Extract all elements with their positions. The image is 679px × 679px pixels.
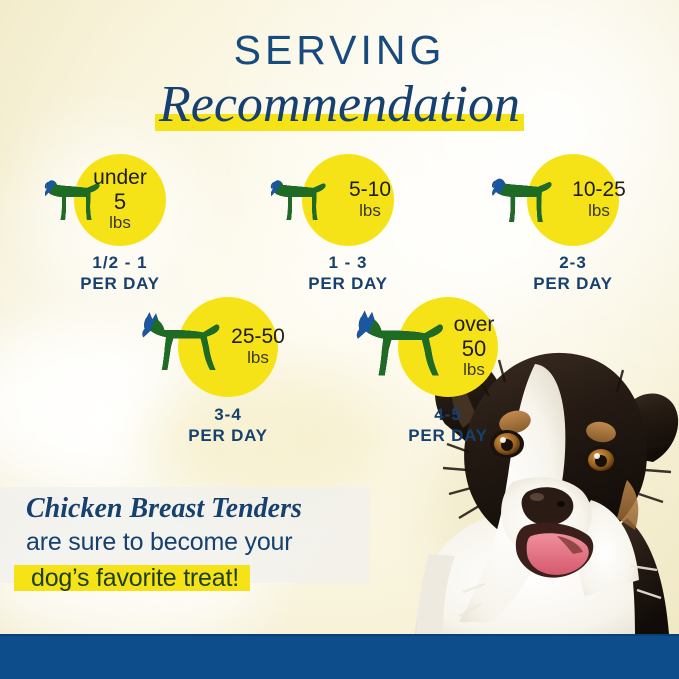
weight-value: 5-10: [349, 179, 391, 201]
weight-label: 25-50 lbs: [178, 297, 308, 397]
page-title: SERVING Recommendation: [0, 30, 679, 132]
weight-unit: lbs: [247, 348, 269, 368]
bottom-brand-bar: [0, 634, 679, 679]
serving-amount: 1/2 - 1: [20, 253, 220, 274]
title-line-serving: SERVING: [0, 30, 679, 71]
blurb: Chicken Breast Tenders are sure to becom…: [26, 492, 386, 594]
serving-amount: 1 - 3: [248, 253, 448, 274]
weight-unit: lbs: [109, 213, 131, 233]
blurb-line-2: are sure to become your: [26, 526, 386, 559]
serving-cell-5-10: 5-10 lbs 1 - 3 PER DAY: [248, 150, 448, 294]
weight-value: 5: [114, 190, 126, 213]
serving-disc-area: 25-50 lbs: [128, 295, 328, 395]
serving-disc-area: 5-10 lbs: [248, 150, 448, 250]
blurb-line-3: dog’s favorite treat!: [26, 564, 244, 592]
title-recommendation-text: Recommendation: [159, 76, 520, 133]
serving-disc-area: under 5 lbs: [20, 150, 220, 250]
serving-frequency: PER DAY: [248, 274, 448, 295]
weight-label: under 5 lbs: [74, 154, 166, 246]
serving-cell-under-5: under 5 lbs 1/2 - 1 PER DAY: [20, 150, 220, 294]
weight-value: 10-25: [572, 179, 626, 201]
weight-unit: lbs: [359, 201, 381, 221]
serving-amount: 4-5: [348, 405, 548, 426]
bottom-bar-edge: [0, 634, 679, 636]
serving-disc-area: 10-25 lbs: [473, 150, 673, 250]
title-line-recommendation: Recommendation: [159, 78, 520, 132]
serving-caption: 2-3 PER DAY: [473, 253, 673, 294]
serving-row-1: under 5 lbs 1/2 - 1 PER DAY: [0, 150, 679, 295]
serving-frequency: PER DAY: [20, 274, 220, 295]
serving-caption: 1/2 - 1 PER DAY: [20, 253, 220, 294]
serving-amount: 2-3: [473, 253, 673, 274]
serving-recommendation-infographic: SERVING Recommendation: [0, 0, 679, 679]
weight-value: 25-50: [231, 326, 285, 348]
weight-unit: lbs: [588, 201, 610, 221]
serving-caption: 1 - 3 PER DAY: [248, 253, 448, 294]
weight-label: 10-25 lbs: [527, 154, 645, 246]
serving-frequency: PER DAY: [128, 426, 328, 447]
serving-disc-area: over 50 lbs: [348, 295, 548, 395]
serving-caption: 3-4 PER DAY: [128, 405, 328, 446]
weight-value: 50: [462, 337, 486, 360]
blurb-line-3-wrapper: dog’s favorite treat!: [26, 562, 244, 595]
serving-frequency: PER DAY: [348, 426, 548, 447]
blurb-line-1: Chicken Breast Tenders: [26, 492, 386, 525]
serving-caption: 4-5 PER DAY: [348, 405, 548, 446]
weight-prefix: over: [454, 314, 495, 337]
serving-cell-10-25: 10-25 lbs 2-3 PER DAY: [473, 150, 673, 294]
weight-label: over 50 lbs: [398, 297, 524, 397]
serving-cell-over-50: over 50 lbs 4-5 PER DAY: [348, 295, 548, 446]
dog-eye-right: [584, 446, 618, 474]
weight-prefix: under: [93, 167, 147, 190]
weight-label: 5-10 lbs: [302, 154, 416, 246]
serving-size-grid: under 5 lbs 1/2 - 1 PER DAY: [0, 150, 679, 445]
serving-cell-25-50: 25-50 lbs 3-4 PER DAY: [128, 295, 328, 446]
serving-frequency: PER DAY: [473, 274, 673, 295]
weight-unit: lbs: [463, 360, 485, 380]
serving-row-2: 25-50 lbs 3-4 PER DAY: [0, 295, 679, 445]
serving-amount: 3-4: [128, 405, 328, 426]
